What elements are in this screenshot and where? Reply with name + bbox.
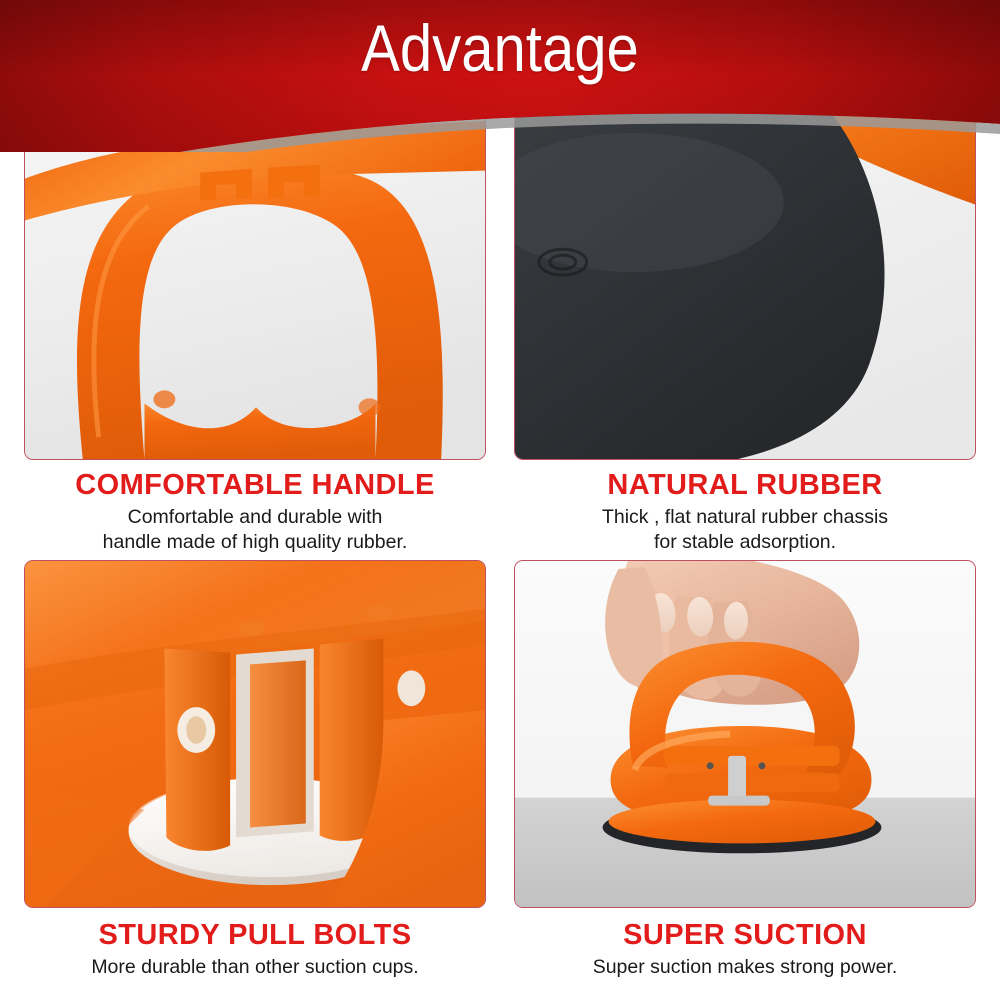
caption-title-super-suction: SUPER SUCTION <box>510 918 980 952</box>
bolts-illustration <box>25 561 485 907</box>
feature-panel-natural-rubber <box>514 112 976 460</box>
rubber-illustration <box>515 113 975 459</box>
handle-crossbar-lower <box>664 774 839 792</box>
caption-line: Comfortable and durable with <box>20 505 490 530</box>
caption-body-natural-rubber: Thick , flat natural rubber chassis for … <box>510 505 980 555</box>
caption-super-suction: SUPER SUCTION Super suction makes strong… <box>510 918 980 980</box>
caption-line: More durable than other suction cups. <box>20 955 490 980</box>
photo-comfortable-handle <box>24 112 486 460</box>
rubber-base-top <box>609 800 876 844</box>
screw-left <box>707 762 714 769</box>
handle-rivet-bottom-right <box>359 398 381 416</box>
feature-panel-comfortable-handle <box>24 112 486 460</box>
feature-panel-super-suction <box>514 560 976 908</box>
metal-pin <box>728 756 746 800</box>
caption-body-sturdy-pull-bolts: More durable than other suction cups. <box>20 955 490 980</box>
caption-sturdy-pull-bolts: STURDY PULL BOLTS More durable than othe… <box>20 918 490 980</box>
caption-line: handle made of high quality rubber. <box>20 530 490 555</box>
center-bracket-orange <box>250 660 306 827</box>
bar-dimple-left <box>239 621 265 637</box>
caption-title-sturdy-pull-bolts: STURDY PULL BOLTS <box>20 918 490 952</box>
caption-title-natural-rubber: NATURAL RUBBER <box>510 468 980 502</box>
handle-crossbar-upper <box>664 746 839 766</box>
suction-illustration <box>515 561 975 907</box>
metal-pin-foot <box>708 796 770 806</box>
advantage-infographic: Advantage COMFORTABLE HANDLE Comfortable… <box>0 0 1000 1000</box>
caption-line: for stable adsorption. <box>510 530 980 555</box>
handle-illustration <box>25 113 485 459</box>
caption-line: Super suction makes strong power. <box>510 955 980 980</box>
caption-body-comfortable-handle: Comfortable and durable with handle made… <box>20 505 490 555</box>
caption-line: Thick , flat natural rubber chassis <box>510 505 980 530</box>
feature-panel-sturdy-pull-bolts <box>24 560 486 908</box>
photo-super-suction <box>514 560 976 908</box>
bolt-head-right <box>397 670 425 706</box>
bolt-head-left-inner <box>186 716 206 744</box>
photo-natural-rubber <box>514 112 976 460</box>
caption-comfortable-handle: COMFORTABLE HANDLE Comfortable and durab… <box>20 468 490 555</box>
caption-body-super-suction: Super suction makes strong power. <box>510 955 980 980</box>
bar-dimple-right <box>367 605 393 621</box>
photo-sturdy-pull-bolts <box>24 560 486 908</box>
handle-rivet-bottom-left <box>153 390 175 408</box>
screw-right <box>758 762 765 769</box>
caption-title-comfortable-handle: COMFORTABLE HANDLE <box>20 468 490 502</box>
caption-natural-rubber: NATURAL RUBBER Thick , flat natural rubb… <box>510 468 980 555</box>
